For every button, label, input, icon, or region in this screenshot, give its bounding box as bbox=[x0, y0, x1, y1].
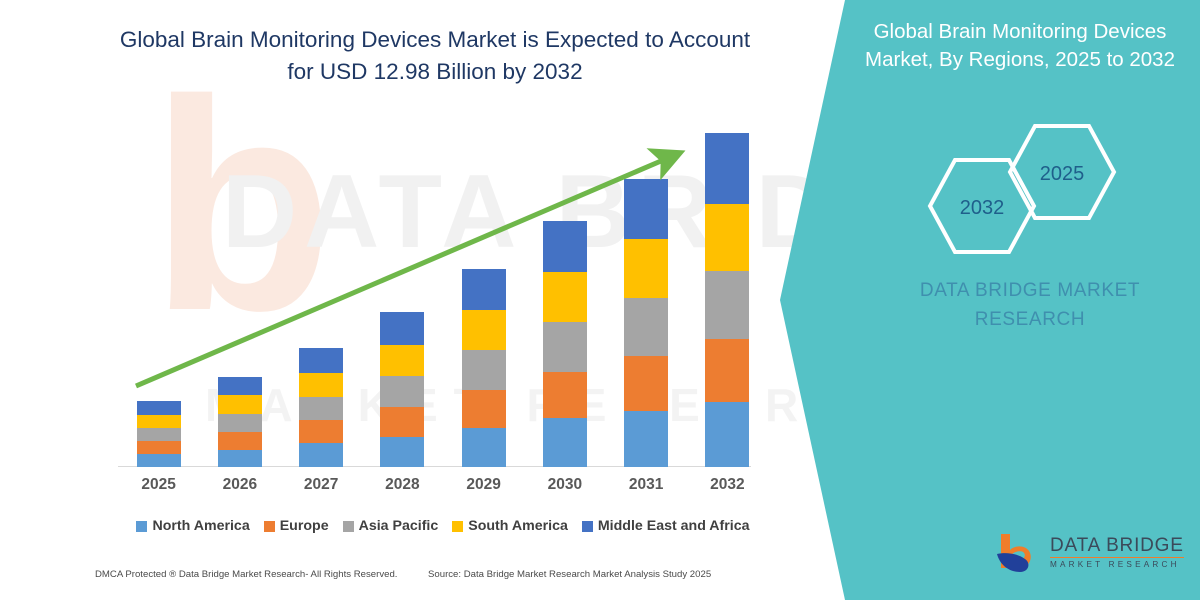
page-title: Global Brain Monitoring Devices Market i… bbox=[110, 24, 760, 88]
bar-segment bbox=[624, 179, 668, 240]
legend-label: Europe bbox=[280, 518, 329, 534]
bar-column bbox=[524, 120, 605, 467]
dbmr-logo: DATA BRIDGE MARKET RESEARCH bbox=[995, 532, 1184, 574]
stacked-bar-series bbox=[118, 120, 768, 467]
bar-segment bbox=[462, 350, 506, 390]
footer-source: Source: Data Bridge Market Research Mark… bbox=[428, 569, 711, 580]
bar-segment bbox=[462, 428, 506, 467]
legend-item[interactable]: South America bbox=[452, 518, 568, 534]
bar-segment bbox=[218, 432, 262, 449]
bar-segment bbox=[624, 411, 668, 467]
bar-stack-2032 bbox=[705, 133, 749, 467]
x-tick-2029: 2029 bbox=[443, 476, 524, 494]
legend-item[interactable]: Asia Pacific bbox=[343, 518, 439, 534]
bar-stack-2025 bbox=[137, 401, 181, 467]
legend-label: Middle East and Africa bbox=[598, 518, 750, 534]
bar-segment bbox=[543, 221, 587, 272]
hex-2032: 2032 bbox=[928, 158, 1036, 254]
bar-segment bbox=[624, 298, 668, 357]
bar-stack-2030 bbox=[543, 221, 587, 467]
x-tick-2028: 2028 bbox=[362, 476, 443, 494]
panel-brand-text: DATA BRIDGE MARKET RESEARCH bbox=[880, 276, 1180, 335]
dbmr-logo-mark bbox=[995, 532, 1041, 574]
dbmr-logo-main: DATA BRIDGE bbox=[1050, 536, 1184, 555]
bar-segment bbox=[218, 414, 262, 432]
bar-segment bbox=[462, 310, 506, 350]
legend-swatch-icon bbox=[264, 521, 275, 532]
bar-segment bbox=[543, 372, 587, 419]
footer-copyright: DMCA Protected ® Data Bridge Market Rese… bbox=[95, 569, 397, 580]
bar-segment bbox=[137, 415, 181, 428]
bar-stack-2026 bbox=[218, 377, 262, 467]
legend-item[interactable]: Europe bbox=[264, 518, 329, 534]
panel-title: Global Brain Monitoring Devices Market, … bbox=[845, 18, 1195, 75]
bar-segment bbox=[543, 272, 587, 322]
bar-segment bbox=[299, 420, 343, 443]
bar-segment bbox=[299, 443, 343, 467]
legend-swatch-icon bbox=[452, 521, 463, 532]
legend-label: Asia Pacific bbox=[359, 518, 439, 534]
legend-item[interactable]: North America bbox=[136, 518, 249, 534]
bar-segment bbox=[299, 373, 343, 397]
bar-segment bbox=[543, 418, 587, 467]
bar-segment bbox=[380, 437, 424, 467]
dbmr-logo-text: DATA BRIDGE MARKET RESEARCH bbox=[1050, 536, 1184, 569]
bar-column bbox=[199, 120, 280, 467]
x-tick-2030: 2030 bbox=[524, 476, 605, 494]
x-axis-tick-labels: 20252026202720282029203020312032 bbox=[118, 476, 768, 494]
bar-segment bbox=[218, 377, 262, 395]
bar-segment bbox=[705, 402, 749, 467]
dbmr-logo-rule bbox=[1050, 557, 1184, 558]
bar-segment bbox=[380, 312, 424, 345]
hex-2032-label: 2032 bbox=[960, 197, 1005, 219]
x-tick-2031: 2031 bbox=[606, 476, 687, 494]
legend-swatch-icon bbox=[136, 521, 147, 532]
bar-segment bbox=[218, 395, 262, 413]
bar-stack-2029 bbox=[462, 269, 506, 467]
bar-segment bbox=[137, 401, 181, 415]
bar-segment bbox=[380, 376, 424, 407]
bar-stack-2028 bbox=[380, 312, 424, 467]
bar-segment bbox=[543, 322, 587, 372]
chart-container: 20252026202720282029203020312032 North A… bbox=[0, 0, 790, 600]
chart-legend: North AmericaEuropeAsia PacificSouth Ame… bbox=[118, 518, 768, 534]
bar-column bbox=[443, 120, 524, 467]
x-tick-2025: 2025 bbox=[118, 476, 199, 494]
x-tick-2032: 2032 bbox=[687, 476, 768, 494]
bar-segment bbox=[705, 133, 749, 203]
bar-column bbox=[362, 120, 443, 467]
bar-stack-2027 bbox=[299, 348, 343, 467]
legend-swatch-icon bbox=[582, 521, 593, 532]
bar-segment bbox=[137, 454, 181, 467]
infographic-page: b DATA BRIDGE MARKET RESEARCH Global Bra… bbox=[0, 0, 1200, 600]
bar-column bbox=[606, 120, 687, 467]
bar-segment bbox=[705, 204, 749, 271]
dbmr-logo-sub: MARKET RESEARCH bbox=[1050, 561, 1184, 569]
bar-segment bbox=[462, 390, 506, 428]
bar-column bbox=[281, 120, 362, 467]
bar-segment bbox=[624, 239, 668, 298]
x-tick-2027: 2027 bbox=[281, 476, 362, 494]
x-tick-2026: 2026 bbox=[199, 476, 280, 494]
hex-2025-label: 2025 bbox=[1040, 163, 1085, 185]
bar-segment bbox=[137, 441, 181, 454]
bar-column bbox=[687, 120, 768, 467]
legend-item[interactable]: Middle East and Africa bbox=[582, 518, 750, 534]
bar-segment bbox=[462, 269, 506, 310]
bar-segment bbox=[705, 271, 749, 339]
bar-stack-2031 bbox=[624, 179, 668, 467]
bar-segment bbox=[380, 345, 424, 376]
legend-label: North America bbox=[152, 518, 249, 534]
legend-swatch-icon bbox=[343, 521, 354, 532]
bar-segment bbox=[218, 450, 262, 467]
bar-segment bbox=[299, 348, 343, 373]
legend-label: South America bbox=[468, 518, 568, 534]
bar-segment bbox=[624, 356, 668, 410]
bar-segment bbox=[380, 407, 424, 436]
bar-segment bbox=[705, 339, 749, 402]
bar-segment bbox=[299, 397, 343, 421]
bar-column bbox=[118, 120, 199, 467]
bar-segment bbox=[137, 428, 181, 441]
